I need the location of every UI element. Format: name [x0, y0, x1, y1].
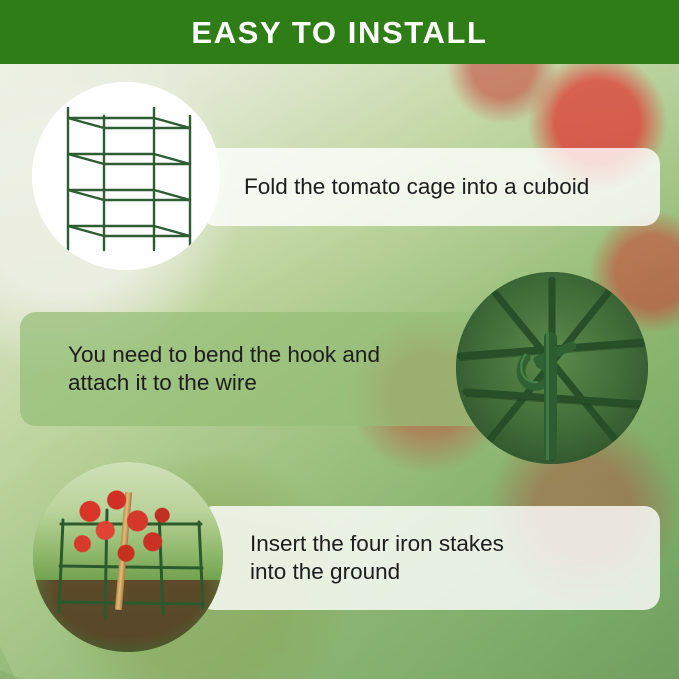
- tomato-fruits: [33, 462, 223, 652]
- step-2-text: You need to bend the hook and attach it …: [68, 341, 380, 397]
- folded-cage-drawing: [32, 82, 220, 270]
- folded-cage-diagram: [32, 82, 220, 270]
- step-1-text: Fold the tomato cage into a cuboid: [244, 173, 589, 201]
- product-instruction-poster: EASY TO INSTALL Fold the tomato cage int…: [0, 0, 679, 679]
- step-2-callout: You need to bend the hook and attach it …: [20, 312, 490, 426]
- hook-closeup-drawing: [456, 272, 648, 464]
- page-title: EASY TO INSTALL: [191, 17, 487, 48]
- hook-closeup-photo: [456, 272, 648, 464]
- header-banner: EASY TO INSTALL: [0, 0, 679, 64]
- step-3-text: Insert the four iron stakes into the gro…: [250, 530, 504, 586]
- tomato-plant-in-cage-photo: [33, 462, 223, 652]
- step-1-callout: Fold the tomato cage into a cuboid: [200, 148, 660, 226]
- step-3-callout: Insert the four iron stakes into the gro…: [198, 506, 660, 610]
- garden-scene: [33, 462, 223, 652]
